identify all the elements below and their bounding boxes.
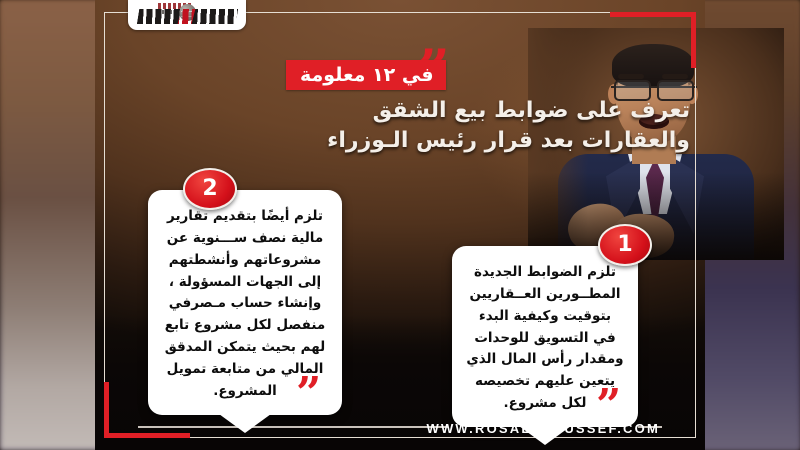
page-title: تعرف على ضوابط بيع الشقق والعقارات بعد ق… — [270, 96, 690, 155]
kicker-badge: في ١٢ معلومة — [286, 60, 446, 90]
info-card-2-number-badge: 2 — [183, 168, 237, 210]
headline-line-1: تعرف على ضوابط بيع الشقق — [270, 96, 690, 126]
logo-artwork — [132, 2, 242, 28]
rose-al-youssef-logo[interactable] — [128, 0, 246, 30]
footer-rule-left — [138, 426, 448, 428]
logo-wordmark — [137, 9, 238, 24]
headline-line-2: والعقارات بعد قرار رئيس الـوزراء — [270, 126, 690, 156]
corner-accent-top-right — [610, 12, 696, 68]
site-url[interactable]: WWW.ROSAELYOUSSEF.COM — [426, 421, 660, 436]
quote-icon-card-2: ” — [296, 372, 319, 416]
info-card-1-number-badge: 1 — [598, 224, 652, 266]
poster-canvas: ” في ١٢ معلومة تعرف على ضوابط بيع الشقق … — [0, 0, 800, 450]
info-card-2-tail — [219, 414, 271, 433]
